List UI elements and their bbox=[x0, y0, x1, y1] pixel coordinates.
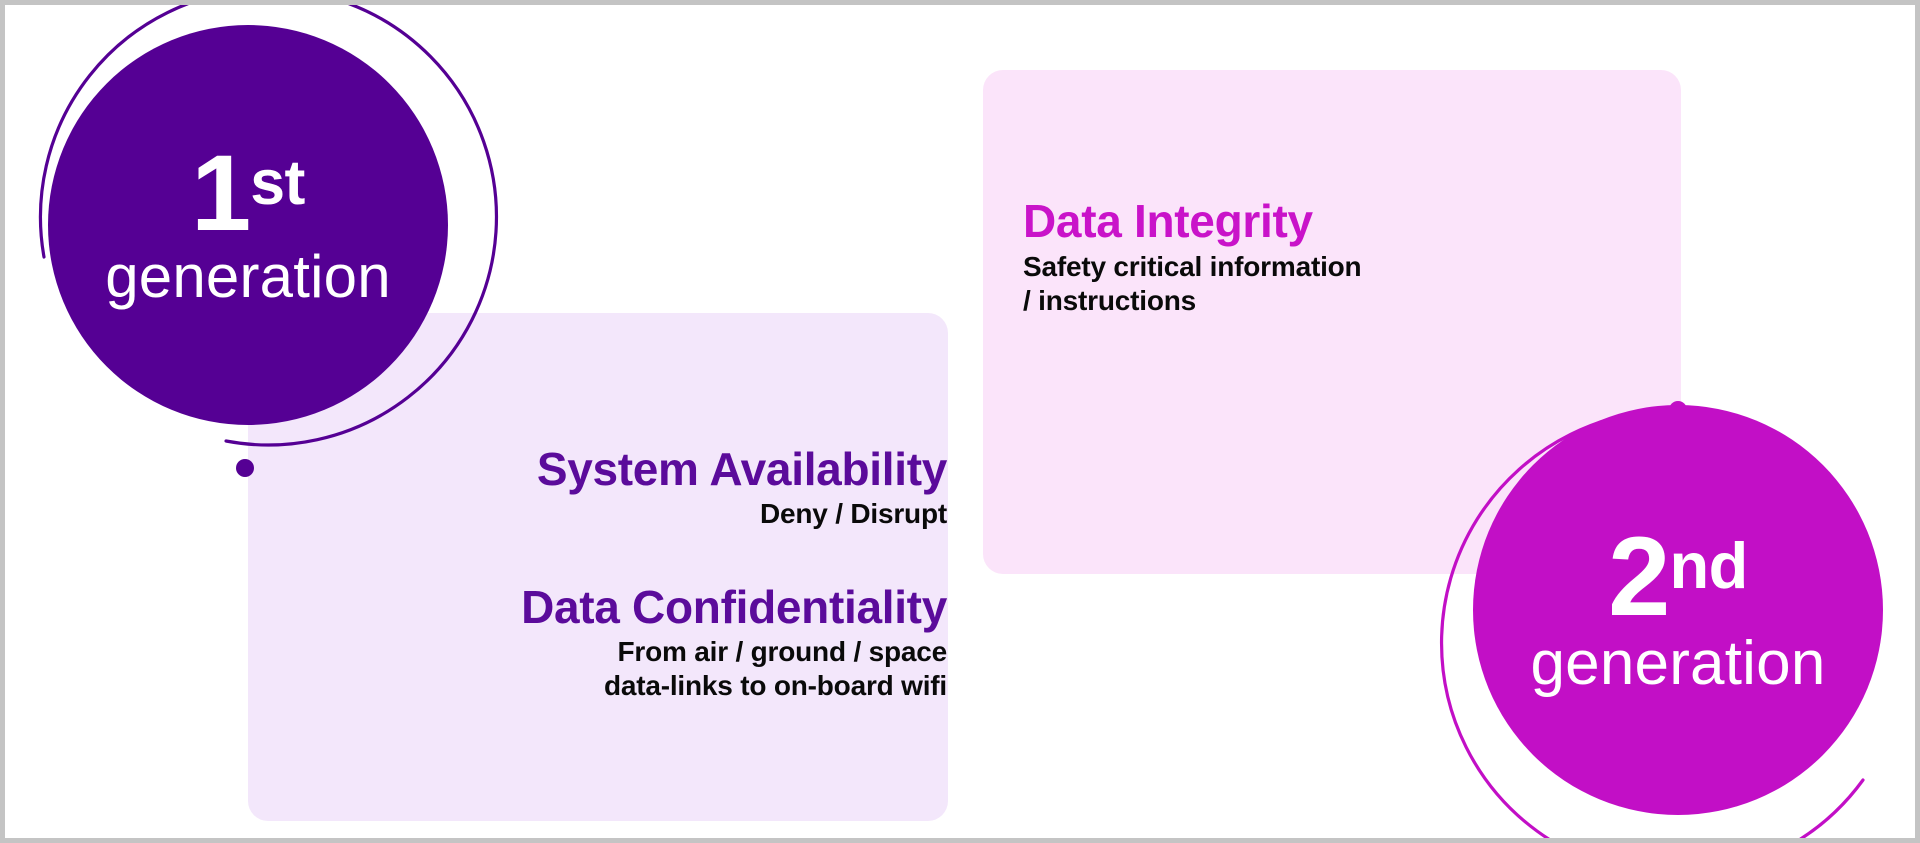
generation-1-label: generation bbox=[105, 247, 391, 307]
arc-end-dot-icon bbox=[236, 459, 254, 477]
generation-1-ordinal: 1st bbox=[191, 143, 305, 242]
generation-badge-2: 2nd generation bbox=[1473, 405, 1883, 815]
text-block-data-confidentiality: Data Confidentiality From air / ground /… bbox=[305, 583, 947, 704]
slide-canvas: Data Integrity Safety critical informati… bbox=[0, 0, 1920, 843]
subline-system-availability-1: Deny / Disrupt bbox=[305, 497, 947, 531]
subline-data-integrity-2: / instructions bbox=[1023, 284, 1663, 318]
heading-data-integrity: Data Integrity bbox=[1023, 197, 1663, 245]
generation-2-ordinal-number: 2 bbox=[1608, 514, 1669, 639]
text-block-system-availability: System Availability Deny / Disrupt bbox=[305, 445, 947, 531]
generation-badge-1: 1st generation bbox=[48, 25, 448, 425]
text-block-data-integrity: Data Integrity Safety critical informati… bbox=[1023, 197, 1663, 319]
subline-data-confidentiality-1: From air / ground / space bbox=[305, 635, 947, 669]
heading-data-confidentiality: Data Confidentiality bbox=[305, 583, 947, 631]
generation-2-label: generation bbox=[1530, 633, 1825, 695]
generation-1-disc: 1st generation bbox=[48, 25, 448, 425]
generation-2-disc: 2nd generation bbox=[1473, 405, 1883, 815]
subline-data-confidentiality-2: data-links to on-board wifi bbox=[305, 669, 947, 703]
generation-2-ordinal-suffix: nd bbox=[1669, 529, 1747, 602]
generation-1-ordinal-number: 1 bbox=[191, 132, 250, 253]
generation-1-ordinal-suffix: st bbox=[250, 148, 305, 218]
heading-system-availability: System Availability bbox=[305, 445, 947, 493]
subline-data-integrity-1: Safety critical information bbox=[1023, 250, 1663, 284]
generation-2-ordinal: 2nd bbox=[1608, 525, 1748, 628]
